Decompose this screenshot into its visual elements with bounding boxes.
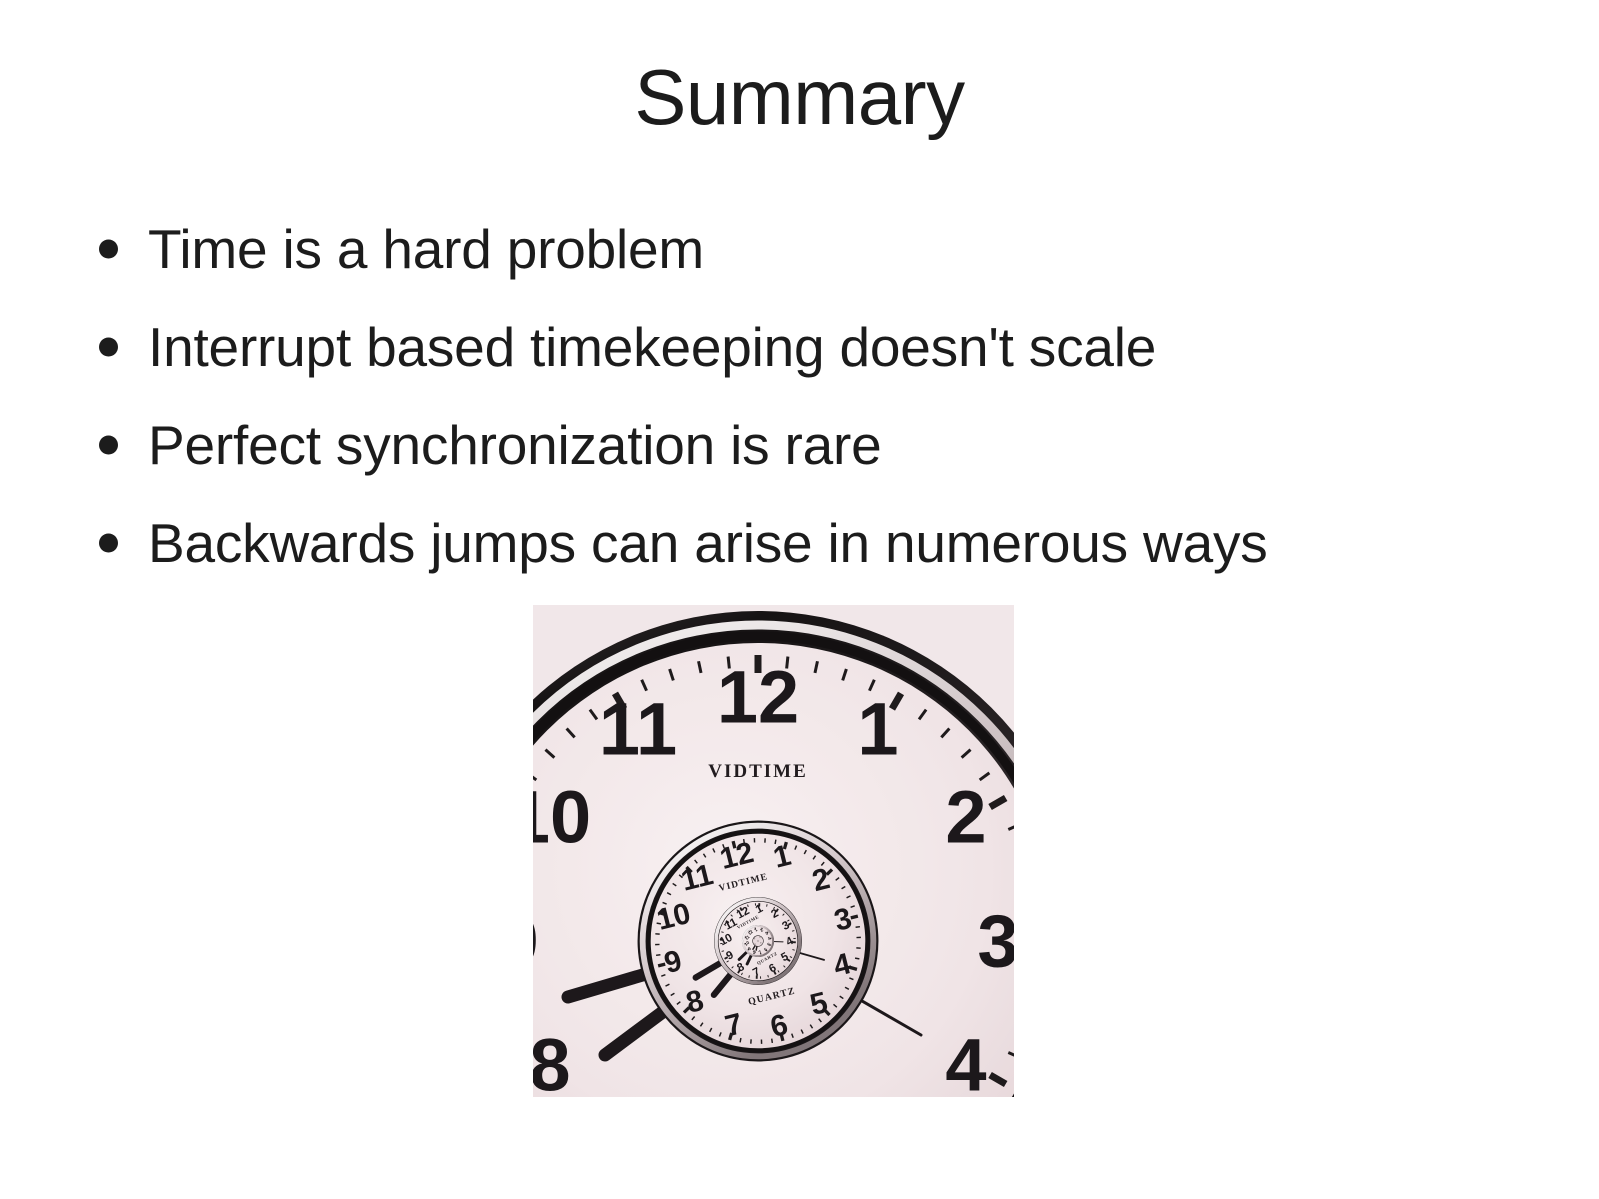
list-item-label: Backwards jumps can arise in numerous wa…	[148, 516, 1268, 571]
bullet-point-icon	[99, 240, 118, 259]
list-item: Perfect synchronization is rare	[88, 396, 1508, 494]
list-item: Backwards jumps can arise in numerous wa…	[88, 494, 1508, 592]
list-item-label: Time is a hard problem	[148, 222, 704, 277]
page-title: Summary	[0, 58, 1599, 136]
bullet-point-icon	[99, 534, 118, 553]
list-item-label: Interrupt based timekeeping doesn't scal…	[148, 320, 1156, 375]
recursive-clock-image: 12 1 2 3 4 5 6 7 8 9 10 11 VIDTIME QUART…	[533, 605, 1014, 1097]
bullet-point-icon	[99, 338, 118, 357]
slide: Summary Time is a hard problem Interrupt…	[0, 0, 1599, 1199]
list-item: Interrupt based timekeeping doesn't scal…	[88, 298, 1508, 396]
bullet-point-icon	[99, 436, 118, 455]
list-item-label: Perfect synchronization is rare	[148, 418, 882, 473]
bullet-list: Time is a hard problem Interrupt based t…	[88, 200, 1508, 592]
clock-illustration: 12 1 2 3 4 5 6 7 8 9 10 11 VIDTIME QUART…	[533, 605, 1014, 1097]
list-item: Time is a hard problem	[88, 200, 1508, 298]
